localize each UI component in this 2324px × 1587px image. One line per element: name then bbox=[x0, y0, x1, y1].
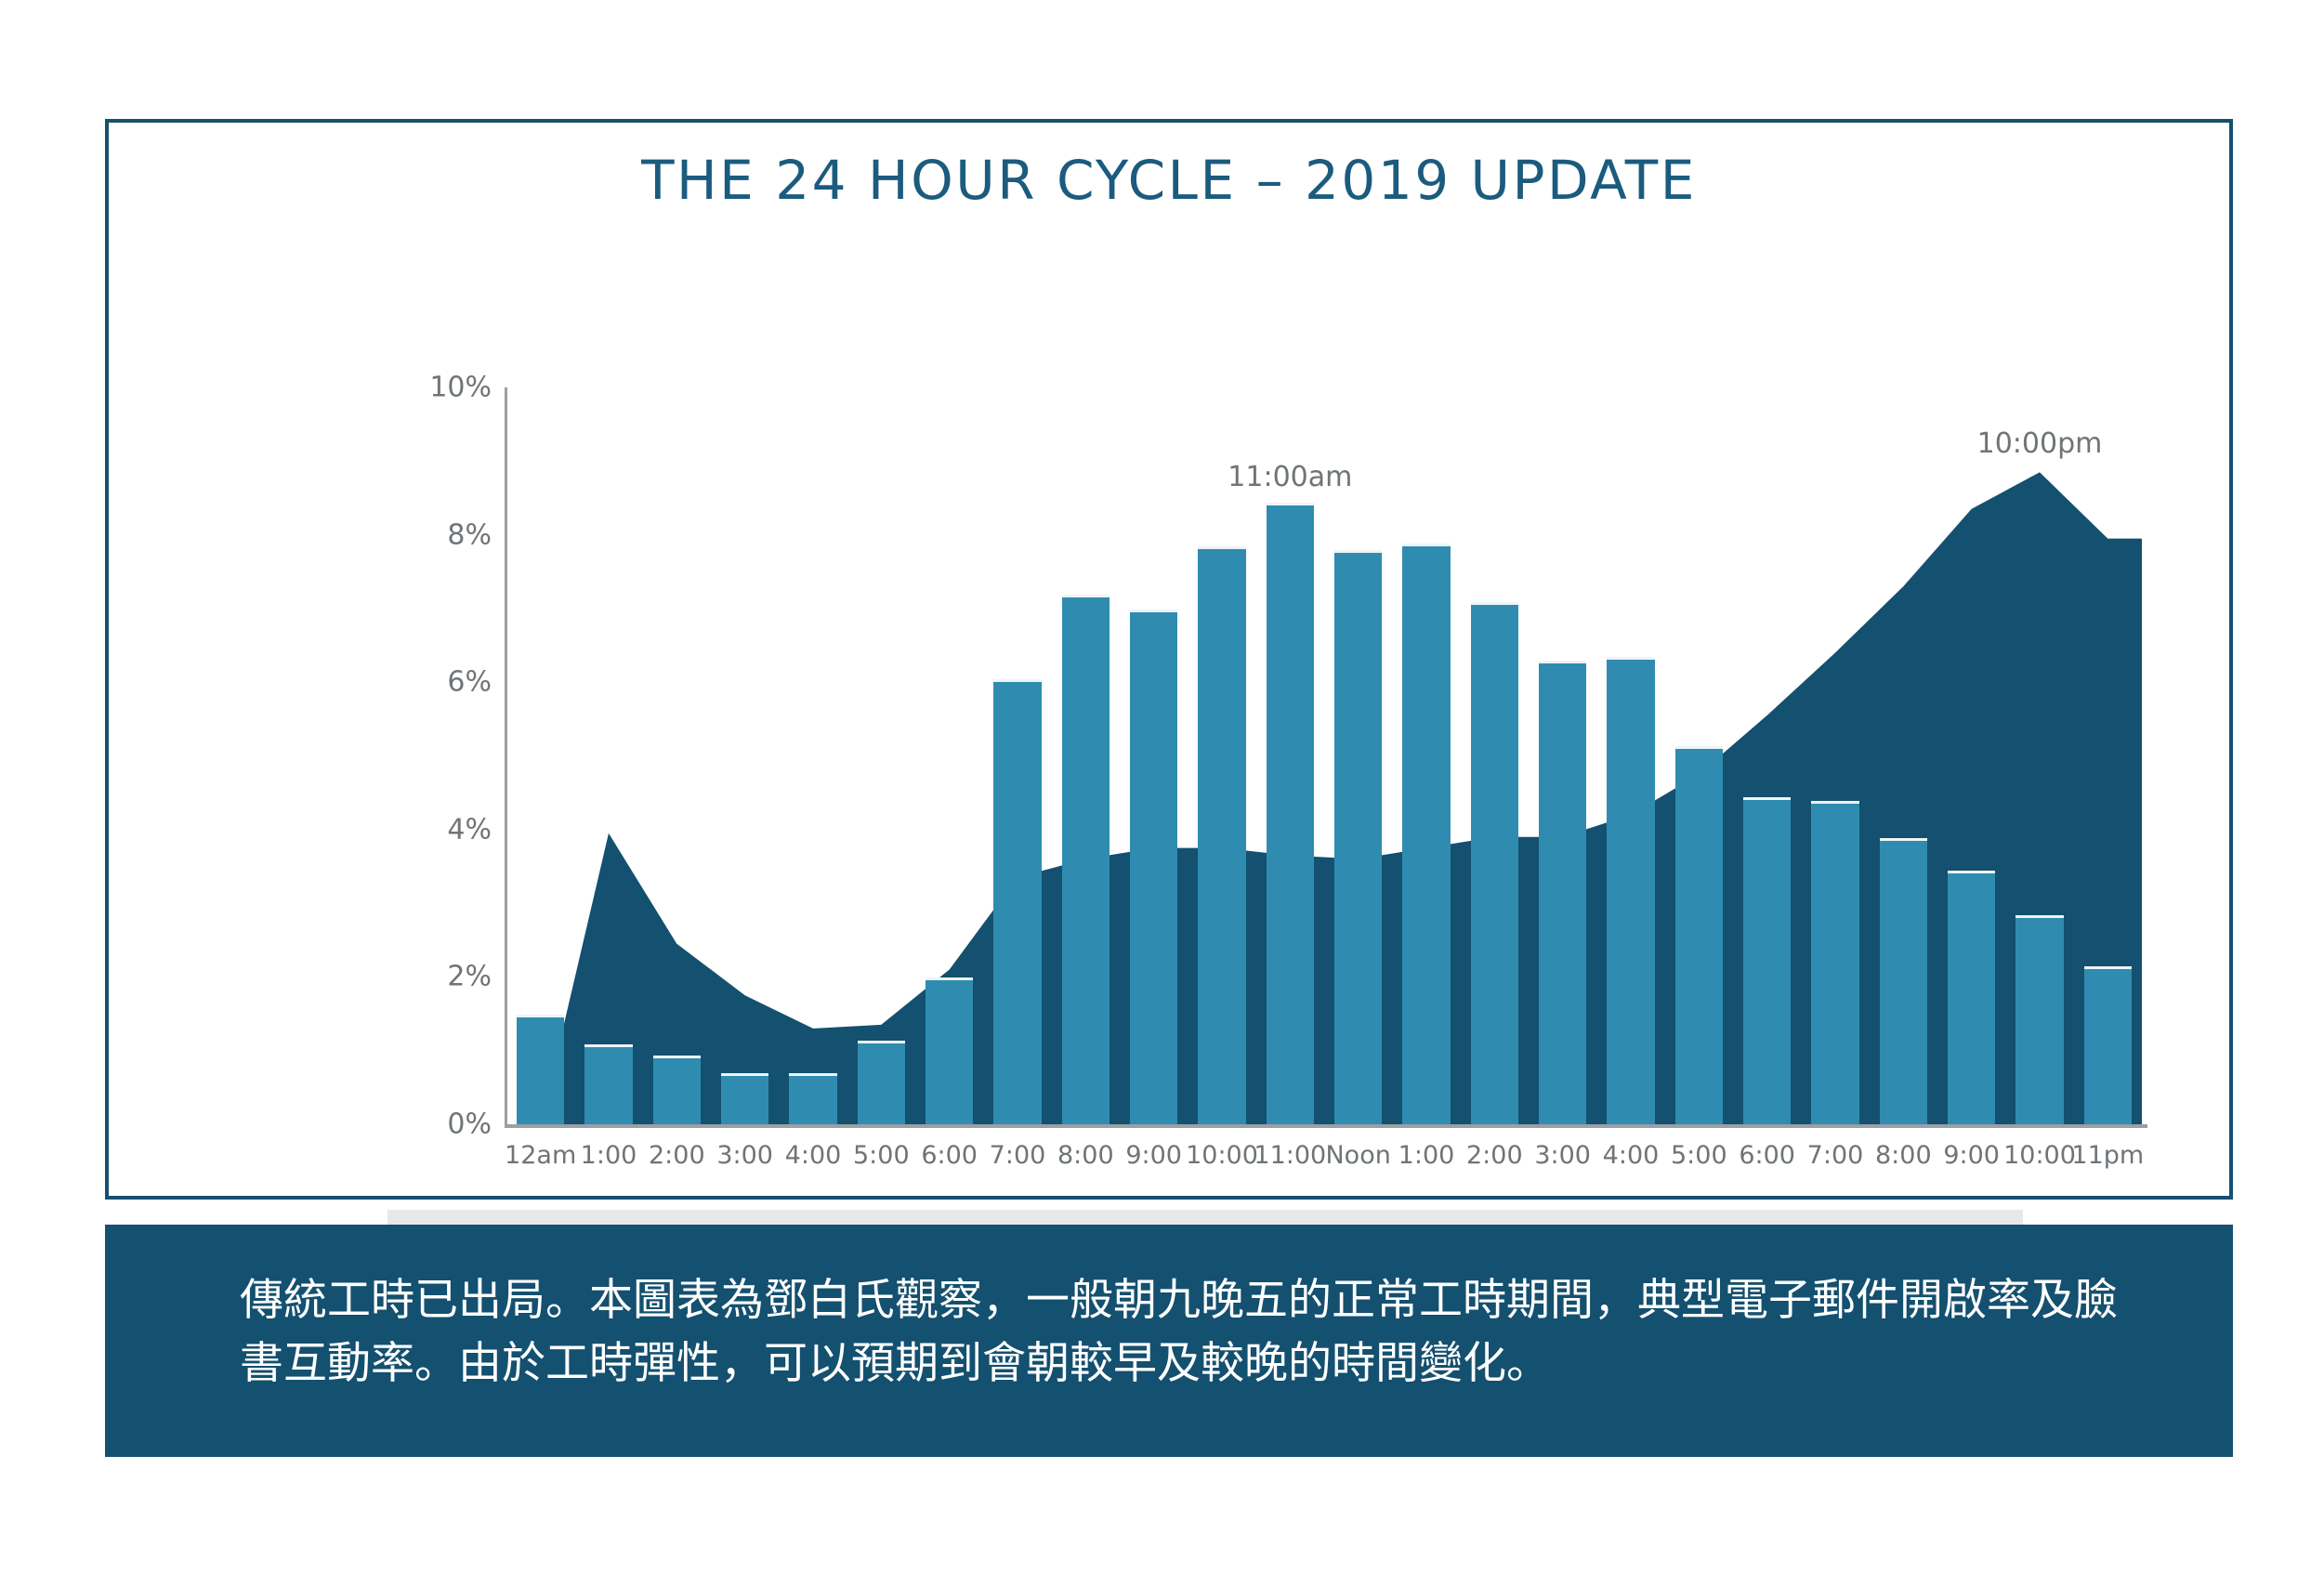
bar bbox=[789, 1073, 836, 1124]
bar bbox=[1539, 661, 1586, 1124]
x-axis-tick: 4:00 bbox=[785, 1141, 842, 1170]
x-axis-tick: 3:00 bbox=[1534, 1141, 1591, 1170]
bar bbox=[653, 1056, 701, 1124]
caption-text: 傳統工時已出局。本圖表為鄧白氏觀察，一般朝九晚五的正常工時期間，典型電子郵件開啟… bbox=[240, 1269, 2154, 1396]
y-axis-tick: 10% bbox=[380, 372, 492, 404]
chart-card: THE 24 HOUR CYCLE – 2019 UPDATE 0%2%4%6%… bbox=[105, 119, 2233, 1200]
x-axis-tick: 2:00 bbox=[1466, 1141, 1523, 1170]
x-axis-tick: 7:00 bbox=[990, 1141, 1046, 1170]
x-axis-tick: 6:00 bbox=[921, 1141, 978, 1170]
x-axis-tick: 9:00 bbox=[1943, 1141, 2000, 1170]
x-axis-tick: 10:00 bbox=[2003, 1141, 2076, 1170]
x-axis-tick: 9:00 bbox=[1125, 1141, 1182, 1170]
bar bbox=[1062, 595, 1109, 1124]
bar bbox=[2015, 915, 2063, 1124]
email-opens-bars bbox=[506, 387, 2142, 1124]
y-axis-tick: 8% bbox=[380, 518, 492, 551]
y-axis-tick: 2% bbox=[380, 961, 492, 993]
bar bbox=[1607, 657, 1654, 1124]
bar bbox=[517, 1015, 564, 1124]
x-axis-tick: 1:00 bbox=[1398, 1141, 1455, 1170]
bar bbox=[858, 1041, 905, 1124]
bar bbox=[1675, 746, 1723, 1124]
x-axis-tick: 4:00 bbox=[1603, 1141, 1660, 1170]
y-axis-tick: 0% bbox=[380, 1108, 492, 1141]
bar bbox=[926, 977, 973, 1124]
peak-annotation: 11:00am bbox=[1228, 461, 1352, 493]
bar bbox=[1471, 602, 1518, 1124]
x-axis-tick: 10:00 bbox=[1186, 1141, 1258, 1170]
x-axis-tick: 2:00 bbox=[649, 1141, 705, 1170]
bar bbox=[584, 1044, 632, 1124]
page-title: THE 24 HOUR CYCLE – 2019 UPDATE bbox=[109, 149, 2229, 212]
x-axis-tick: 12am bbox=[505, 1141, 576, 1170]
y-axis-tick: 6% bbox=[380, 666, 492, 699]
x-axis-line bbox=[505, 1124, 2147, 1128]
x-axis-tick: 3:00 bbox=[716, 1141, 773, 1170]
peak-annotation: 10:00pm bbox=[1977, 427, 2103, 460]
x-axis-tick: 5:00 bbox=[1671, 1141, 1727, 1170]
y-axis-tick: 4% bbox=[380, 813, 492, 846]
caption-band: 傳統工時已出局。本圖表為鄧白氏觀察，一般朝九晚五的正常工時期間，典型電子郵件開啟… bbox=[105, 1225, 2233, 1457]
x-axis-tick: 11:00 bbox=[1254, 1141, 1326, 1170]
bar bbox=[1880, 838, 1927, 1124]
bar bbox=[1743, 797, 1791, 1124]
bar bbox=[1267, 503, 1314, 1124]
bar bbox=[721, 1073, 768, 1124]
x-axis-tick: 5:00 bbox=[853, 1141, 910, 1170]
bar bbox=[2084, 966, 2132, 1124]
slide-page: THE 24 HOUR CYCLE – 2019 UPDATE 0%2%4%6%… bbox=[0, 0, 2324, 1587]
x-axis-tick: 7:00 bbox=[1807, 1141, 1864, 1170]
bar bbox=[1198, 546, 1245, 1124]
x-axis-tick: 8:00 bbox=[1875, 1141, 1932, 1170]
x-axis-tick: 8:00 bbox=[1057, 1141, 1114, 1170]
plot-area: 0%2%4%6%8%10% 12am1:002:003:004:005:006:… bbox=[387, 262, 2162, 1154]
bar bbox=[1811, 801, 1858, 1124]
bar bbox=[1948, 871, 1995, 1124]
x-axis-tick: 6:00 bbox=[1739, 1141, 1795, 1170]
bar bbox=[993, 679, 1041, 1124]
bar bbox=[1130, 610, 1177, 1124]
x-axis-tick: 1:00 bbox=[581, 1141, 637, 1170]
bar bbox=[1402, 544, 1450, 1125]
x-axis-tick: 11pm bbox=[2071, 1141, 2144, 1170]
bar bbox=[1334, 550, 1382, 1124]
x-axis-tick: Noon bbox=[1325, 1141, 1390, 1170]
